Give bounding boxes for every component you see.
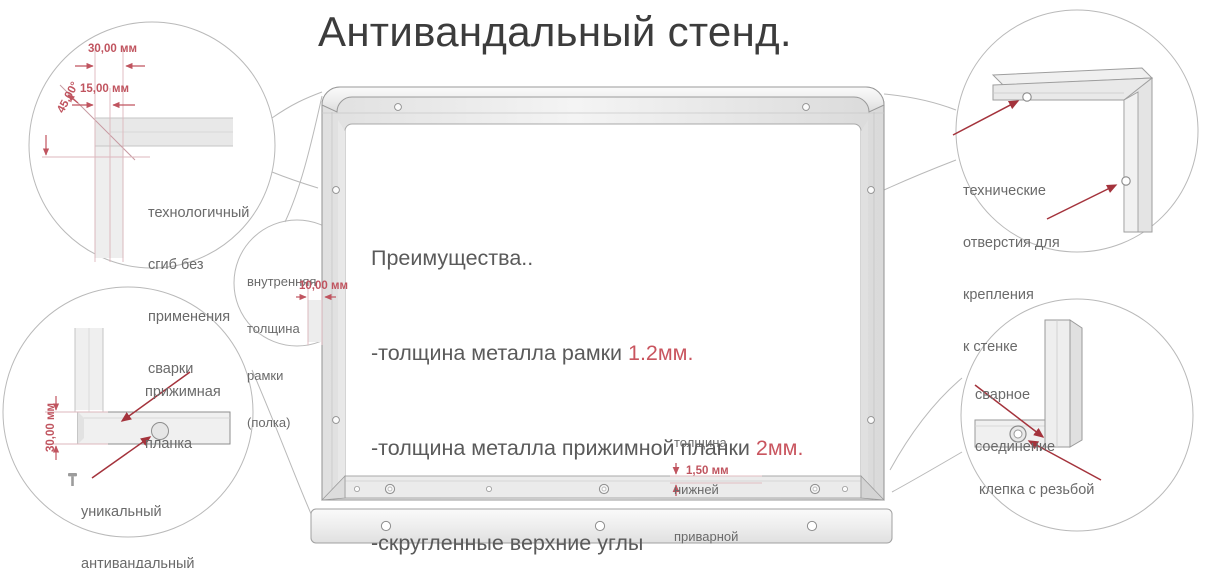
strip-hole bbox=[354, 486, 359, 491]
callout-label-bolt: уникальный антивандальный болт bbox=[81, 469, 195, 568]
dimension-10mm: 10,00 мм bbox=[299, 281, 348, 293]
frame-hole bbox=[803, 104, 810, 111]
advantage-highlight: 2мм. bbox=[756, 436, 804, 460]
dimension-15mm: 15,00 мм bbox=[80, 84, 129, 96]
mount-hole bbox=[1023, 93, 1031, 101]
callout-label-pressure-bar: прижимная планка bbox=[145, 349, 221, 488]
advantages-heading: Преимущества.. bbox=[371, 243, 803, 275]
advantages-block: Преимущества.. -толщина металла рамки 1.… bbox=[371, 180, 803, 568]
callout-label-weld: сварное соединение bbox=[975, 352, 1055, 491]
bar-hole bbox=[807, 521, 816, 530]
advantage-line: -скругленные верхние углы bbox=[371, 528, 803, 560]
page-title: Антивандальный стенд. bbox=[318, 8, 792, 57]
frame-hole bbox=[333, 417, 340, 424]
frame-hole bbox=[395, 104, 402, 111]
leader-weld bbox=[890, 378, 962, 470]
advantage-highlight: 1.2мм. bbox=[628, 341, 693, 365]
dimension-30mm-top: 30,00 мм bbox=[88, 44, 137, 56]
frame-hole bbox=[333, 187, 340, 194]
mount-hole bbox=[1122, 177, 1130, 185]
advantage-line: -толщина металла рамки 1.2мм. bbox=[371, 338, 803, 370]
dimension-30mm-bar: 30,00 мм bbox=[46, 403, 58, 452]
bolt-icon bbox=[68, 473, 77, 486]
frame-hole bbox=[868, 417, 875, 424]
callout-label-shelf: внутренняя толщина рамки (полка) bbox=[247, 243, 316, 461]
frame-hole bbox=[868, 187, 875, 194]
callout-label-strip: толщина нижней приварной полосы bbox=[674, 404, 738, 568]
leader-shelf bbox=[285, 96, 322, 222]
leader-bend bbox=[272, 92, 322, 118]
strip-hole bbox=[842, 486, 847, 491]
callout-label-rivet: клепка с резьбой bbox=[979, 482, 1094, 499]
diagram-canvas: Антивандальный стенд. Преимущества.. -то… bbox=[0, 0, 1210, 568]
advantage-line: -толщина металла прижимной планки 2мм. bbox=[371, 433, 803, 465]
leader-holes bbox=[884, 94, 956, 110]
dimension-150mm: 1,50 мм bbox=[686, 466, 729, 478]
